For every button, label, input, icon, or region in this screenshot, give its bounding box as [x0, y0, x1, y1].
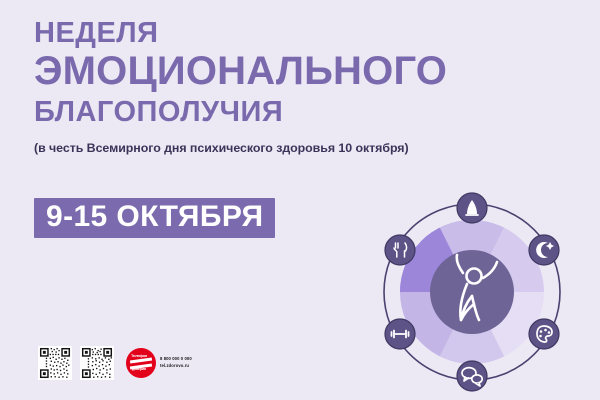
badge-dumbbell[interactable] [385, 319, 415, 349]
red-logo-text-bottom: доверия [132, 368, 146, 372]
wellbeing-wheel [366, 192, 578, 392]
title-line-1: НЕДЕЛЯ [34, 18, 574, 48]
qr-code-2[interactable] [80, 346, 114, 380]
footer-block: Телефон доверия 8 800 000 0 000 tel.zdor… [38, 346, 192, 380]
headline-block: НЕДЕЛЯ ЭМОЦИОНАЛЬНОГО БЛАГОПОЛУЧИЯ (в че… [34, 18, 574, 155]
badge-praying-hands[interactable] [457, 193, 487, 223]
qr-code-1-svg [39, 347, 71, 379]
date-banner: 9-15 ОКТЯБРЯ [34, 198, 275, 238]
qr-code-2-svg [81, 347, 113, 379]
contact-phone: 8 800 000 0 000 [160, 357, 192, 362]
organization-contact: 8 800 000 0 000 tel.zdorovo.ru [160, 357, 192, 368]
badge-fork-knife[interactable] [385, 235, 415, 265]
organization-logo[interactable]: Телефон доверия 8 800 000 0 000 tel.zdor… [126, 348, 192, 378]
poster-root: НЕДЕЛЯ ЭМОЦИОНАЛЬНОГО БЛАГОПОЛУЧИЯ (в че… [0, 0, 600, 400]
qr-code-1[interactable] [38, 346, 72, 380]
red-logo-bar-1 [130, 357, 152, 363]
red-circle-logo: Телефон доверия [126, 348, 156, 378]
wheel-center-circle [430, 250, 514, 334]
title-line-3: БЛАГОПОЛУЧИЯ [34, 97, 574, 127]
wheel-svg [366, 192, 578, 392]
title-line-2: ЭМОЦИОНАЛЬНОГО [34, 50, 574, 93]
badge-moon-sleep[interactable] [529, 235, 559, 265]
badge-speech-bubbles[interactable] [457, 361, 487, 391]
subtitle: (в честь Всемирного дня психического здо… [34, 141, 574, 155]
contact-website: tel.zdorovo.ru [160, 364, 192, 369]
badge-palette[interactable] [529, 319, 559, 349]
date-banner-text: 9-15 ОКТЯБРЯ [46, 202, 263, 232]
